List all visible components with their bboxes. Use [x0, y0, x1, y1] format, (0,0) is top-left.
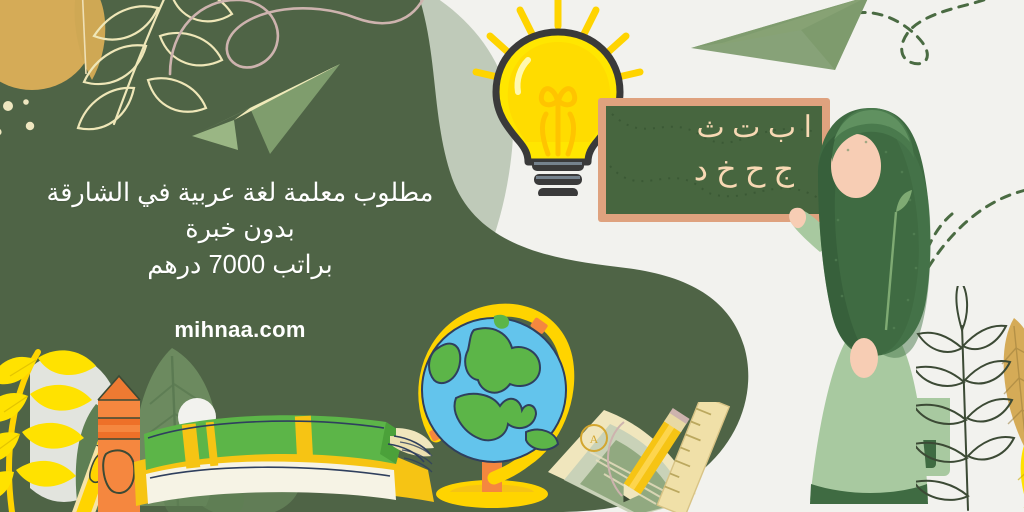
stacked-books-icon — [128, 392, 448, 512]
headline-line-1: مطلوب معلمة لغة عربية في الشارقة — [20, 175, 460, 211]
headline-block: مطلوب معلمة لغة عربية في الشارقة بدون خب… — [20, 175, 460, 343]
leaves-right-decoration — [916, 286, 1024, 512]
headline-line-3: براتب 7000 درهم — [20, 247, 460, 283]
paper-plane-icon — [683, 0, 873, 84]
paper-plane-icon — [190, 58, 370, 158]
poster-canvas: ا ب ت ث ج ح خ د — [0, 0, 1024, 512]
headline-line-2: بدون خبرة — [20, 211, 460, 247]
blackboard-line-2: ج ح خ د — [606, 150, 794, 188]
pencil-icon — [594, 404, 714, 512]
site-url-text: mihnaa.com — [20, 317, 460, 343]
